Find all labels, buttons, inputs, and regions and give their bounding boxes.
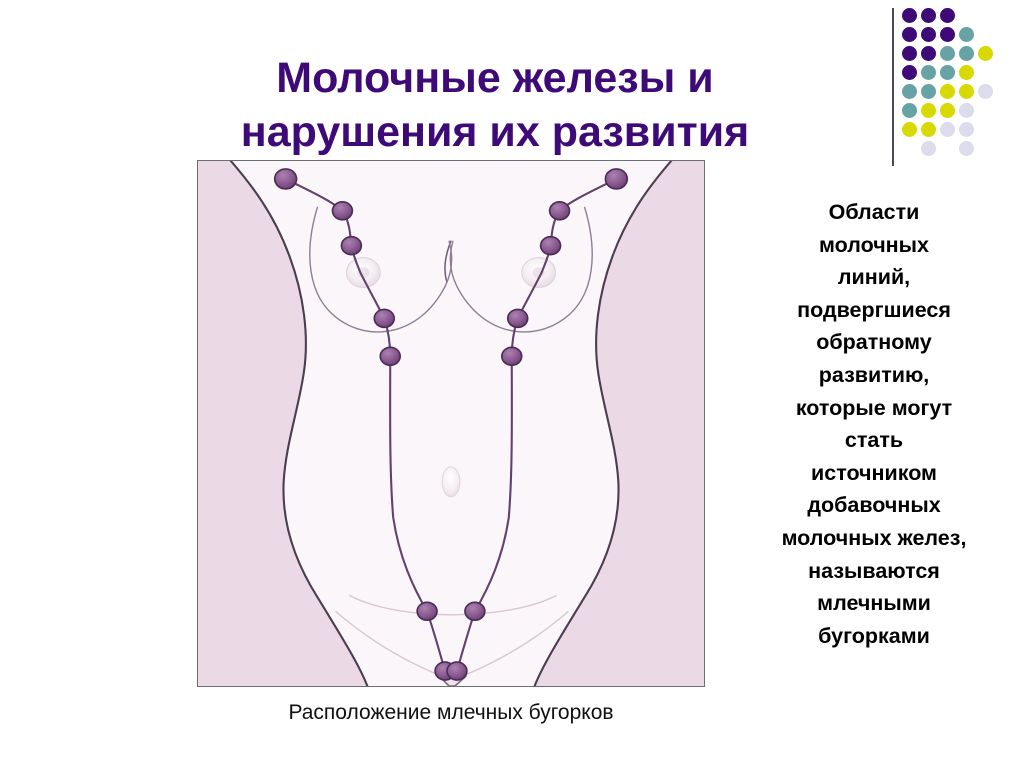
logo-dot-purple <box>940 8 955 23</box>
milk-node <box>417 602 437 620</box>
logo-dot-purple <box>902 46 917 61</box>
logo-dot-yellow <box>902 122 917 137</box>
milk-node <box>341 237 361 255</box>
logo-dot-teal <box>921 65 936 80</box>
milk-node <box>447 662 467 680</box>
logo-dot-teal <box>959 27 974 42</box>
logo-dot-lavender <box>940 122 955 137</box>
logo-dot-yellow <box>921 122 936 137</box>
logo-dot-purple <box>921 27 936 42</box>
milk-node <box>380 347 400 365</box>
logo-dot-grid <box>902 8 1022 168</box>
milk-node <box>502 347 522 365</box>
logo-dot-teal <box>902 103 917 118</box>
illustration-canvas <box>198 161 704 686</box>
logo-dot-purple <box>921 46 936 61</box>
milk-node <box>465 602 485 620</box>
logo-dot-yellow <box>940 103 955 118</box>
logo-dot-lavender <box>959 141 974 156</box>
figure-caption: Расположение млечных бугорков <box>197 700 705 726</box>
logo-dot-teal <box>940 46 955 61</box>
logo-dot-teal <box>940 65 955 80</box>
logo-dot-yellow <box>921 103 936 118</box>
logo-vertical-rule <box>892 8 894 166</box>
logo-dot-purple <box>902 65 917 80</box>
logo-dot-lavender <box>921 141 936 156</box>
page-title: Молочные железы и нарушения их развития <box>110 51 880 159</box>
milk-line-anatomy-figure <box>197 160 705 687</box>
milk-node <box>605 169 627 189</box>
milk-line-description: Области молочных линий, подвергшиеся обр… <box>758 196 990 652</box>
logo-dot-teal <box>959 46 974 61</box>
anatomy-illustration-svg <box>198 161 704 686</box>
dot-grid-logo <box>884 0 1024 172</box>
milk-node <box>374 309 394 327</box>
milk-node <box>550 202 570 220</box>
milk-node <box>332 202 352 220</box>
milk-node <box>541 237 561 255</box>
logo-dot-lavender <box>978 84 993 99</box>
logo-dot-teal <box>921 84 936 99</box>
logo-dot-yellow <box>978 46 993 61</box>
logo-dot-lavender <box>959 103 974 118</box>
logo-dot-yellow <box>940 84 955 99</box>
logo-dot-yellow <box>959 65 974 80</box>
milk-node <box>508 309 528 327</box>
logo-dot-purple <box>902 27 917 42</box>
logo-dot-yellow <box>959 84 974 99</box>
navel <box>442 467 460 497</box>
logo-dot-purple <box>902 8 917 23</box>
logo-dot-teal <box>902 84 917 99</box>
logo-dot-purple <box>921 8 936 23</box>
logo-dot-lavender <box>959 122 974 137</box>
milk-node <box>275 169 297 189</box>
logo-dot-purple <box>940 27 955 42</box>
